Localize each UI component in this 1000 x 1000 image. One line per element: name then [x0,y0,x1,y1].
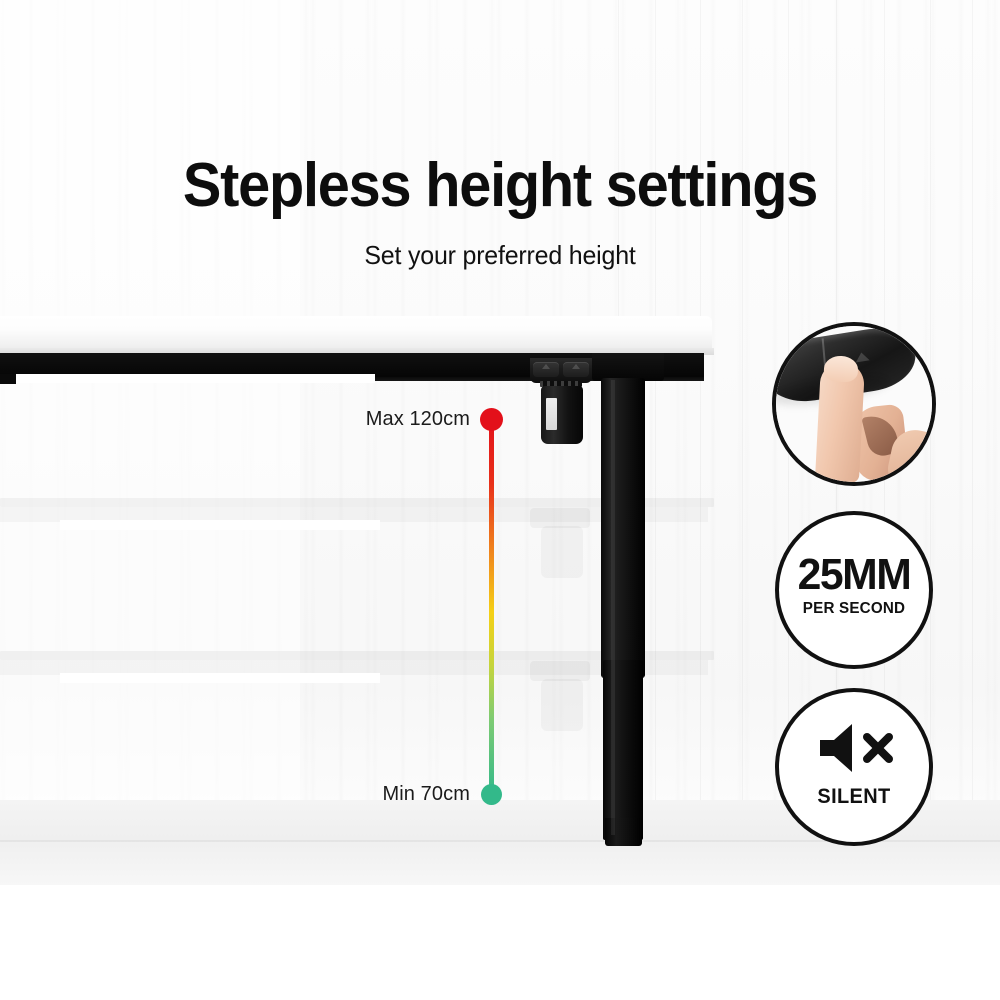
badge-silent-label: SILENT [783,785,926,809]
motor-spec-label [546,398,557,430]
badge-touch-control [772,322,936,486]
blind-slat [655,0,656,885]
blind-slat [742,0,743,885]
muted-speaker-icon [779,718,929,778]
badge-silent-operation: SILENT [775,688,933,846]
page-title: Stepless height settings [35,155,965,217]
page-subtitle: Set your preferred height [20,240,980,271]
background-panel-left [0,0,300,885]
desk-leg-highlight [611,380,615,835]
desk-frame-endcap [0,374,16,384]
keypad-up-arrow-icon [572,364,580,369]
rocker-switch-up-arrow-icon [854,351,869,362]
badge-speed-value: 25MM [781,553,927,597]
keypad-down-arrow-icon [542,364,550,369]
desk-leg-bracket [592,353,664,381]
min-height-label: Min 70cm [365,783,470,806]
height-range-gradient-line [489,415,494,795]
bottom-white-margin [0,885,1000,1000]
blind-slat [700,0,701,885]
desk-leg-lower-segment [603,660,643,840]
blind-slat [972,0,973,885]
max-height-marker-dot [480,408,503,431]
desk-control-keypad[interactable] [530,358,592,383]
product-feature-image: Max 120cm Min 70cm Stepless height setti… [0,0,1000,1000]
min-height-marker-dot [481,784,502,805]
badge-speed-unit: PER SECOND [783,600,926,618]
desk-frame-notch [10,374,375,383]
badge-lift-speed: 25MM PER SECOND [775,511,933,669]
desk-leg-upper-segment [601,378,645,678]
max-height-label: Max 120cm [355,408,470,431]
